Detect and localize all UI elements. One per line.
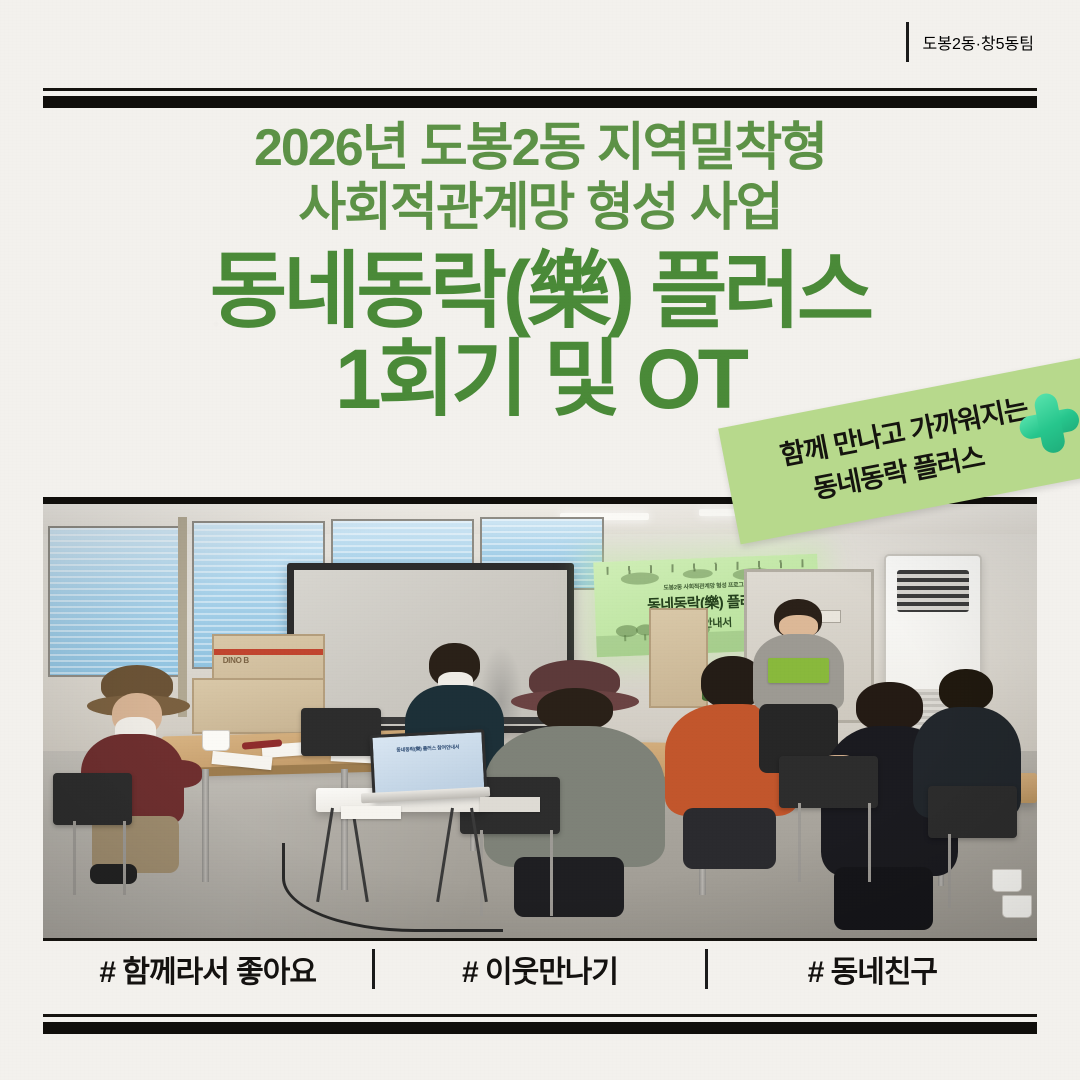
hashtag-item: # 동네친구 — [708, 947, 1037, 991]
header-tick-divider — [906, 22, 909, 62]
chair-leg — [868, 803, 871, 881]
hashtag-item: # 함께라서 좋아요 — [43, 947, 372, 991]
chair-leg — [550, 830, 553, 917]
window-left — [48, 526, 181, 678]
arm — [149, 760, 202, 788]
slide-tree-trunk — [644, 635, 646, 641]
plus-icon-vertical-bar — [1033, 392, 1067, 455]
top-divider-group — [43, 88, 1037, 108]
subtitle-line-2: 사회적관계망 형성 사업 — [0, 178, 1080, 238]
event-photo: 도봉2동 사회적관계망 형성 프로그램 동네동락(樂) 플러스 참여안내서 DI… — [43, 504, 1037, 938]
held-clipboard — [768, 658, 829, 682]
legs — [514, 857, 624, 917]
hashtag-item: # 이웃만나기 — [375, 947, 704, 991]
legs — [834, 867, 933, 930]
header-team-label: 도봉2동·창5동팀 — [923, 30, 1034, 54]
subtitle-line-1: 2026년 도봉2동 지역밀착형 — [0, 118, 1080, 178]
bottom-divider-thick — [43, 1022, 1037, 1034]
tissue-box — [341, 806, 401, 819]
chair-leg — [948, 834, 951, 908]
window-blind — [50, 528, 179, 676]
title-block: 2026년 도봉2동 지역밀착형 사회적관계망 형성 사업 동네동락(樂) 플러… — [0, 118, 1080, 425]
hashtag-row: # 함께라서 좋아요 # 이웃만나기 # 동네친구 — [43, 941, 1037, 997]
paper-cup — [992, 869, 1022, 893]
main-title-line-1: 동네동락(樂) 플러스 — [0, 245, 1080, 337]
chair-leg — [73, 821, 76, 895]
laptop-screen-text: 동네동락(樂) 플러스 참여안내서 — [380, 743, 476, 755]
plus-icon — [1014, 388, 1080, 458]
header: 도봉2동·창5동팀 — [906, 22, 1034, 62]
chair — [53, 773, 133, 825]
head-hair — [939, 669, 993, 711]
chair — [779, 756, 878, 808]
legs — [683, 808, 775, 869]
head-hair — [537, 688, 613, 731]
chair — [301, 708, 381, 756]
chair-leg — [798, 803, 801, 881]
chair — [928, 786, 1017, 838]
top-divider-thick — [43, 96, 1037, 108]
power-strip — [480, 797, 540, 812]
chair-leg — [123, 821, 126, 895]
paper-cup — [1002, 895, 1032, 919]
event-photo-frame: 도봉2동 사회적관계망 형성 프로그램 동네동락(樂) 플러스 참여안내서 DI… — [43, 497, 1037, 938]
slide-tree-trunk — [624, 636, 626, 642]
slide-cloud — [683, 569, 712, 580]
box-label: DINO B — [223, 656, 249, 665]
air-conditioner-grill — [897, 570, 969, 612]
box-stripe — [214, 649, 323, 655]
shoe — [90, 864, 137, 884]
poster-card: 도봉2동·창5동팀 2026년 도봉2동 지역밀착형 사회적관계망 형성 사업 … — [0, 0, 1080, 1080]
bottom-divider-group — [43, 1014, 1037, 1034]
